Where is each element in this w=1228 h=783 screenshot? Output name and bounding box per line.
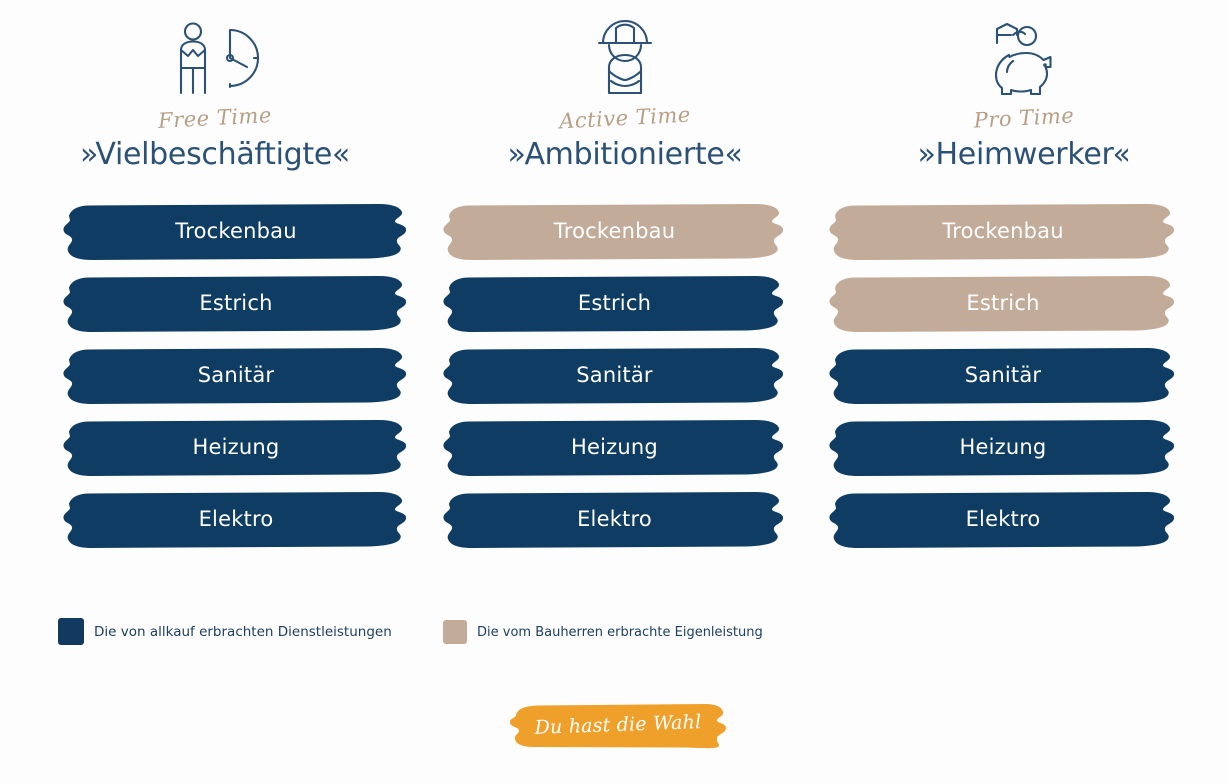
service-bar-label: Heizung [442, 418, 787, 478]
package-column-heimwerker: Pro Time »Heimwerker« Trockenbau Estrich [820, 0, 1228, 580]
service-bar[interactable]: Sanitär [828, 346, 1178, 406]
service-bar-label: Trockenbau [442, 202, 787, 262]
service-bar-label: Trockenbau [62, 202, 410, 262]
service-bar-label: Sanitär [442, 346, 787, 406]
legend-item-dienstleistungen: Die von allkauf erbrachten Dienstleistun… [58, 618, 392, 645]
offer-comparison-page: Free Time »Vielbeschäftigte« Trockenbau … [0, 0, 1228, 783]
service-bar[interactable]: Estrich [62, 274, 410, 334]
column-script-label: Active Time [430, 98, 821, 139]
column-header: Free Time »Vielbeschäftigte« [0, 0, 430, 172]
service-bar-label: Trockenbau [828, 202, 1178, 262]
piggy-bank-icon [820, 12, 1228, 104]
service-bar[interactable]: Elektro [62, 490, 410, 550]
service-bar[interactable]: Elektro [828, 490, 1178, 550]
service-bar[interactable]: Sanitär [62, 346, 410, 406]
legend-swatch-beige [443, 620, 467, 644]
column-header: Pro Time »Heimwerker« [820, 0, 1228, 172]
package-columns: Free Time »Vielbeschäftigte« Trockenbau … [0, 0, 1228, 580]
legend-label: Die vom Bauherren erbrachte Eigenleistun… [477, 625, 763, 640]
column-title: »Heimwerker« [820, 137, 1228, 172]
service-bar-list: Trockenbau Estrich Sanitär [62, 202, 410, 550]
service-bar[interactable]: Sanitär [442, 346, 787, 406]
service-bar-list: Trockenbau Estrich Sanitär [442, 202, 787, 550]
package-column-ambitionierte: Active Time »Ambitionierte« Trockenbau E… [430, 0, 820, 580]
service-bar[interactable]: Trockenbau [828, 202, 1178, 262]
column-header: Active Time »Ambitionierte« [430, 0, 820, 172]
service-bar-label: Heizung [62, 418, 410, 478]
service-bar[interactable]: Elektro [442, 490, 787, 550]
service-bar-label: Heizung [828, 418, 1178, 478]
worker-with-helmet-icon [430, 12, 820, 104]
service-bar[interactable]: Heizung [828, 418, 1178, 478]
service-bar-list: Trockenbau Estrich Sanitär [828, 202, 1178, 550]
legend: Die von allkauf erbrachten Dienstleistun… [0, 618, 1228, 658]
legend-label: Die von allkauf erbrachten Dienstleistun… [94, 624, 392, 640]
service-bar-label: Elektro [62, 490, 410, 550]
service-bar[interactable]: Trockenbau [442, 202, 787, 262]
service-bar[interactable]: Estrich [828, 274, 1178, 334]
service-bar[interactable]: Estrich [442, 274, 787, 334]
person-with-clock-icon [0, 12, 430, 104]
service-bar-label: Estrich [442, 274, 787, 334]
service-bar-label: Sanitär [828, 346, 1178, 406]
service-bar-label: Elektro [442, 490, 787, 550]
badge-label: Du hast die Wahl [507, 698, 729, 754]
service-bar-label: Elektro [828, 490, 1178, 550]
column-title: »Vielbeschäftigte« [0, 137, 430, 172]
service-bar-label: Estrich [828, 274, 1178, 334]
service-bar-label: Sanitär [62, 346, 410, 406]
package-column-vielbeschaeftigte: Free Time »Vielbeschäftigte« Trockenbau … [0, 0, 430, 580]
service-bar[interactable]: Trockenbau [62, 202, 410, 262]
column-title: »Ambitionierte« [430, 137, 820, 172]
service-bar[interactable]: Heizung [442, 418, 787, 478]
legend-item-eigenleistung: Die vom Bauherren erbrachte Eigenleistun… [443, 620, 763, 644]
service-bar[interactable]: Heizung [62, 418, 410, 478]
service-bar-label: Estrich [62, 274, 410, 334]
du-hast-die-wahl-badge[interactable]: Du hast die Wahl [508, 702, 728, 750]
legend-swatch-navy [58, 618, 84, 645]
